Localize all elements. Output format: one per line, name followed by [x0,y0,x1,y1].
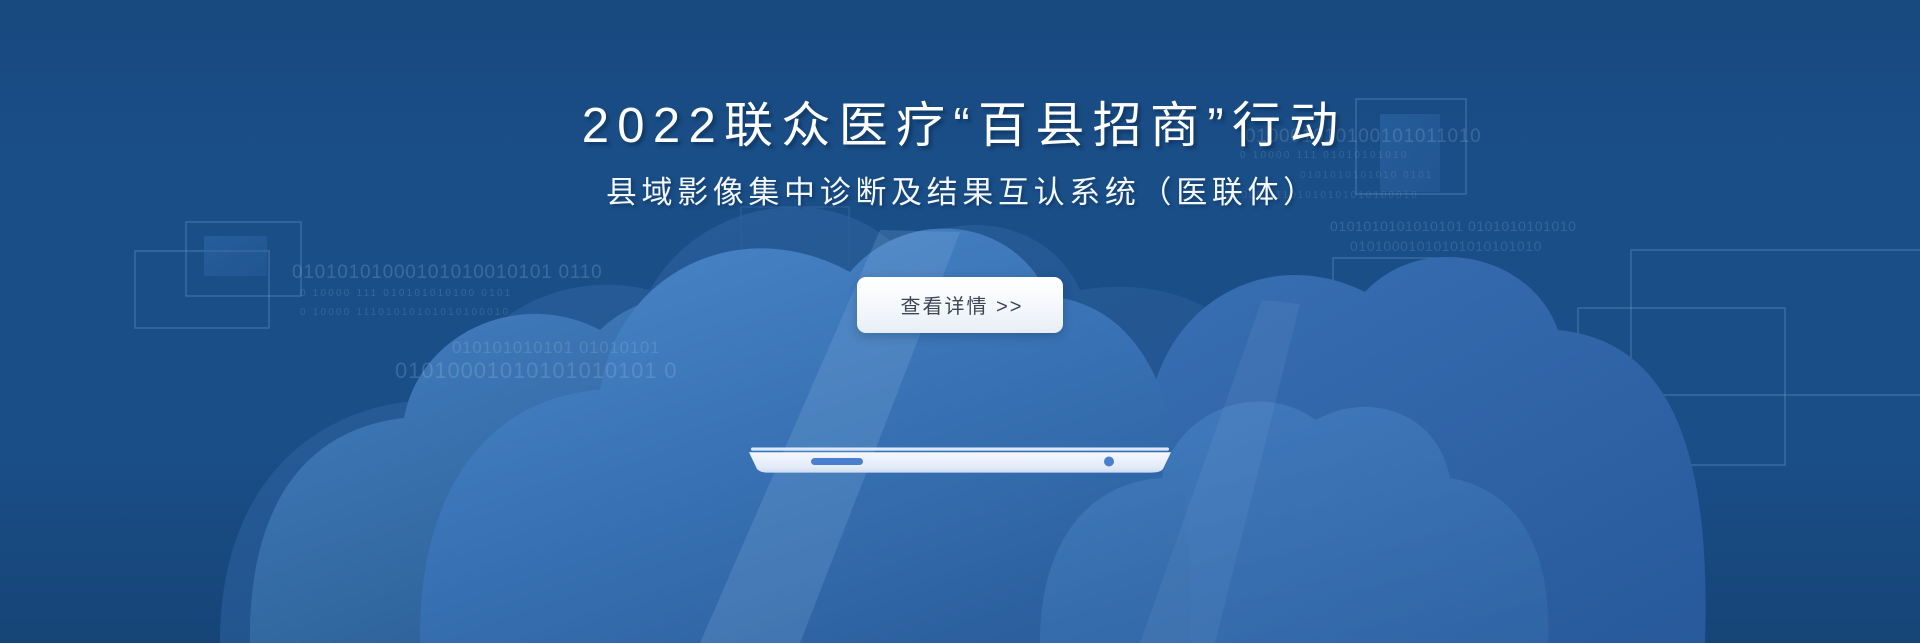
promo-banner: 01010101000101010010101 0110 0 10000 111… [0,0,1920,643]
view-details-button[interactable]: 查看详情 >> [857,277,1064,333]
laptop-trackpad-indicator [811,458,863,465]
laptop-lid-edge [751,448,1169,451]
cta-container: 查看详情 >> [857,277,1064,333]
laptop-power-dot [1104,457,1114,467]
hero-content: 2022联众医疗“百县招商”行动 县域影像集中诊断及结果互认系统（医联体） 查看… [0,0,1920,643]
hero-subtitle: 县域影像集中诊断及结果互认系统（医联体） [601,174,1319,211]
laptop-base-illustration [749,447,1171,473]
hero-title: 2022联众医疗“百县招商”行动 [573,98,1346,156]
